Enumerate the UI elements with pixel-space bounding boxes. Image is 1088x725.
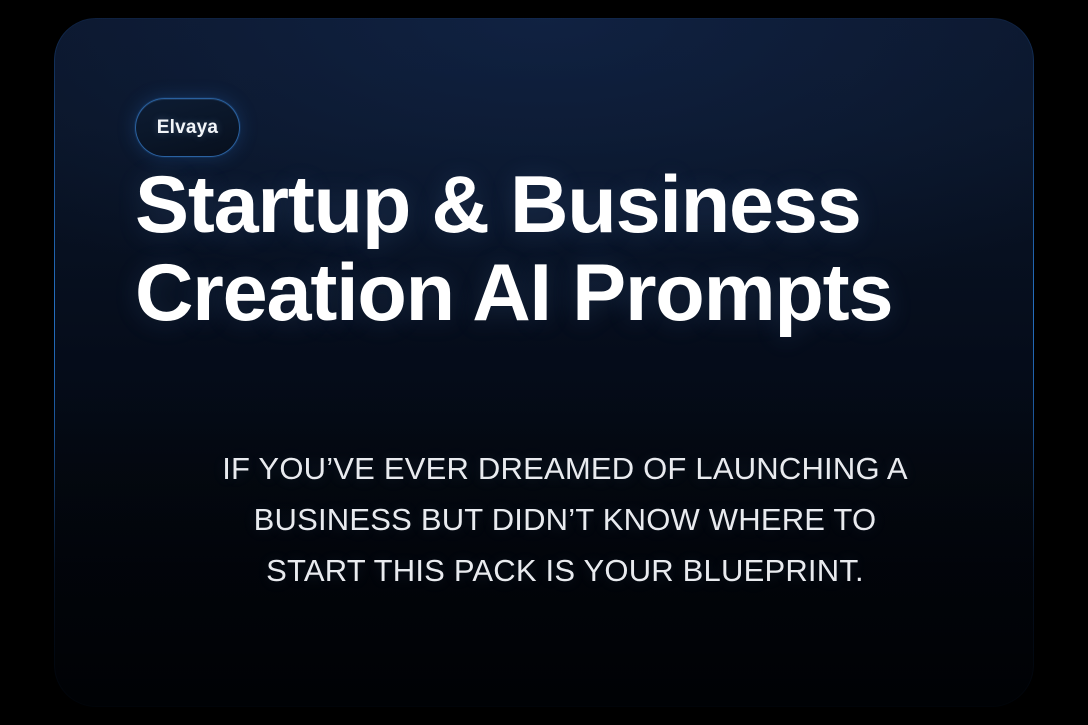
headline-line-1: Startup & Business bbox=[135, 166, 995, 245]
subheading: IF YOU’VE EVER DREAMED OF LAUNCHING A BU… bbox=[135, 443, 995, 596]
brand-badge[interactable]: Elvaya bbox=[135, 98, 240, 157]
brand-badge-label: Elvaya bbox=[157, 117, 218, 139]
screenshot-stage: Elvaya Startup & Business Creation AI Pr… bbox=[0, 0, 1088, 725]
page-title: Startup & Business Creation AI Prompts bbox=[135, 166, 995, 334]
subheading-line-3: START THIS PACK IS YOUR BLUEPRINT. bbox=[135, 545, 995, 596]
subheading-line-1: IF YOU’VE EVER DREAMED OF LAUNCHING A bbox=[135, 443, 995, 494]
subheading-line-2: BUSINESS BUT DIDN’T KNOW WHERE TO bbox=[135, 494, 995, 545]
promo-card: Elvaya Startup & Business Creation AI Pr… bbox=[54, 18, 1034, 707]
headline-line-2: Creation AI Prompts bbox=[135, 254, 995, 333]
